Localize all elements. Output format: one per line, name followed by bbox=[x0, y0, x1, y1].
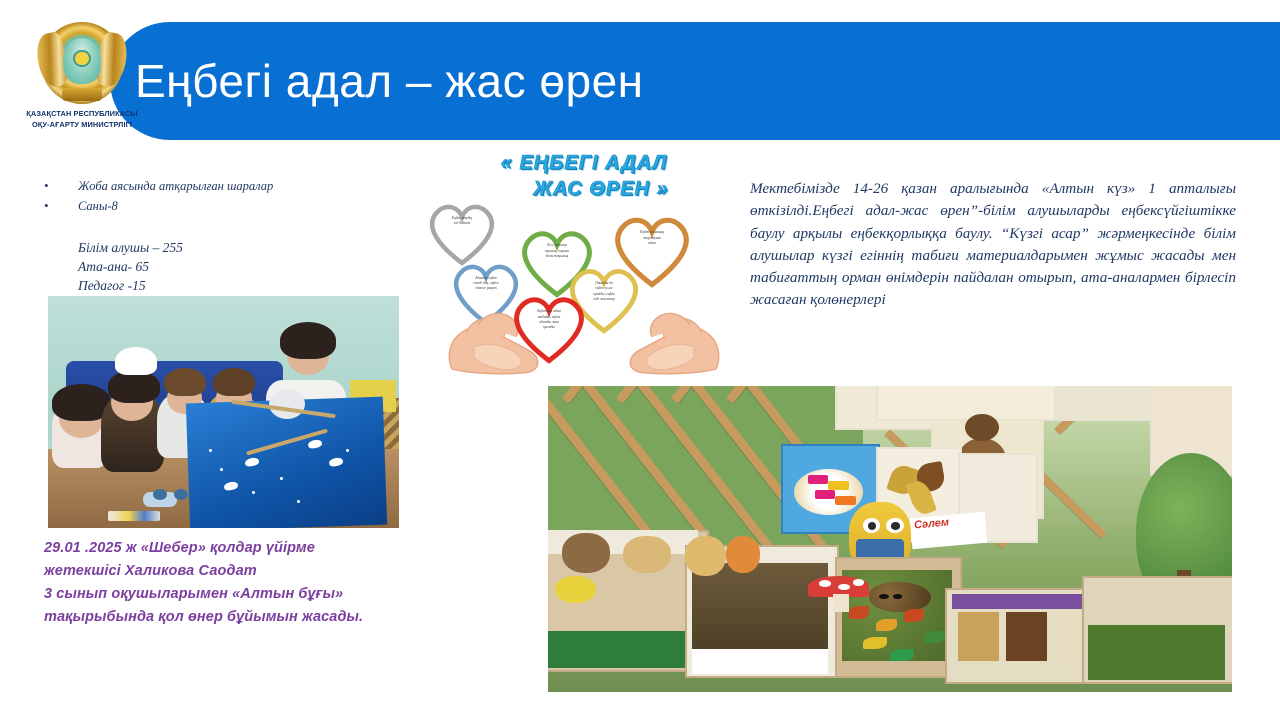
bullet-label: Саны-8 bbox=[78, 196, 118, 216]
left-stats-list: Білім алушы – 255 Ата-ана- 65 Педагог -1… bbox=[78, 238, 418, 295]
exhibit-sign-text: Сәлем bbox=[913, 516, 949, 531]
caption-line-4: тақырыбында қол өнер бұйымын жасады. bbox=[44, 606, 424, 629]
list-item: • Саны-8 bbox=[44, 196, 404, 216]
right-description-paragraph: Мектебімізде 14-26 қазан аралығында «Алт… bbox=[750, 178, 1236, 312]
stat-parents: Ата-ана- 65 bbox=[78, 257, 418, 276]
heart-gray-text: Еңбек етудің өзі-бейнет bbox=[436, 216, 488, 227]
stat-students: Білім алушы – 255 bbox=[78, 238, 418, 257]
heart-blue-text: Адамды еңбек етеді бақ, еңбек етпеге рақ… bbox=[460, 276, 512, 292]
heart-gray: Еңбек етудің өзі-бейнет bbox=[424, 198, 500, 266]
bullet-marker: • bbox=[44, 196, 78, 216]
emblem-caption-line-2: ОҚУ-АҒАРТУ МИНИСТРЛІГІ bbox=[26, 119, 137, 130]
emblem-caption-line-1: ҚАЗАҚСТАН РЕСПУБЛИКАСЫ bbox=[26, 108, 137, 119]
heart-orange: Еңбек-адамның жаратушы адам bbox=[608, 210, 696, 288]
caption-line-3: 3 сынып оқушыларымен «Алтын бұғы» bbox=[44, 583, 424, 606]
stat-teachers: Педагог -15 bbox=[78, 276, 418, 295]
bullet-label: Жоба аясында атқарылған шаралар bbox=[78, 176, 273, 196]
project-logo-infographic: « ЕҢБЕГІ АДАЛ ЖАС ӨРЕН » Еңбек етудің өз… bbox=[424, 150, 744, 375]
emblem-caption: ҚАЗАҚСТАН РЕСПУБЛИКАСЫ ОҚУ-АҒАРТУ МИНИСТ… bbox=[26, 108, 137, 130]
heart-red: Еңбектен адам табады, еңбек адамды жан қ… bbox=[508, 290, 590, 364]
page-title: Еңбегі адал – жас өрен bbox=[135, 22, 935, 140]
bullet-marker: • bbox=[44, 176, 78, 196]
list-item: • Жоба аясында атқарылған шаралар bbox=[44, 176, 404, 196]
photo-autumn-fair-exhibit: Сәлем bbox=[548, 386, 1232, 692]
caption-line-2: жетекшісі Халикова Саодат bbox=[44, 560, 424, 583]
heart-red-text: Еңбектен адам табады, еңбек адамды жан қ… bbox=[521, 309, 577, 331]
caption-left-photo: 29.01 .2025 ж «Шебер» қолдар үйірме жете… bbox=[44, 537, 424, 629]
left-bullet-list: • Жоба аясында атқарылған шаралар • Саны… bbox=[44, 176, 404, 216]
heart-green-text: Кел, балалар оқылық, оқыған білім тоқылы… bbox=[529, 243, 585, 259]
photo-children-craft bbox=[48, 296, 399, 528]
caption-line-1: 29.01 .2025 ж «Шебер» қолдар үйірме bbox=[44, 537, 424, 560]
state-emblem-block: ҚАЗАҚСТАН РЕСПУБЛИКАСЫ ОҚУ-АҒАРТУ МИНИСТ… bbox=[22, 22, 142, 142]
infographic-title-line-1: « ЕҢБЕГІ АДАЛ bbox=[424, 150, 744, 176]
kazakhstan-state-emblem-icon bbox=[41, 22, 123, 104]
heart-orange-text: Еңбек-адамның жаратушы адам bbox=[622, 230, 682, 246]
